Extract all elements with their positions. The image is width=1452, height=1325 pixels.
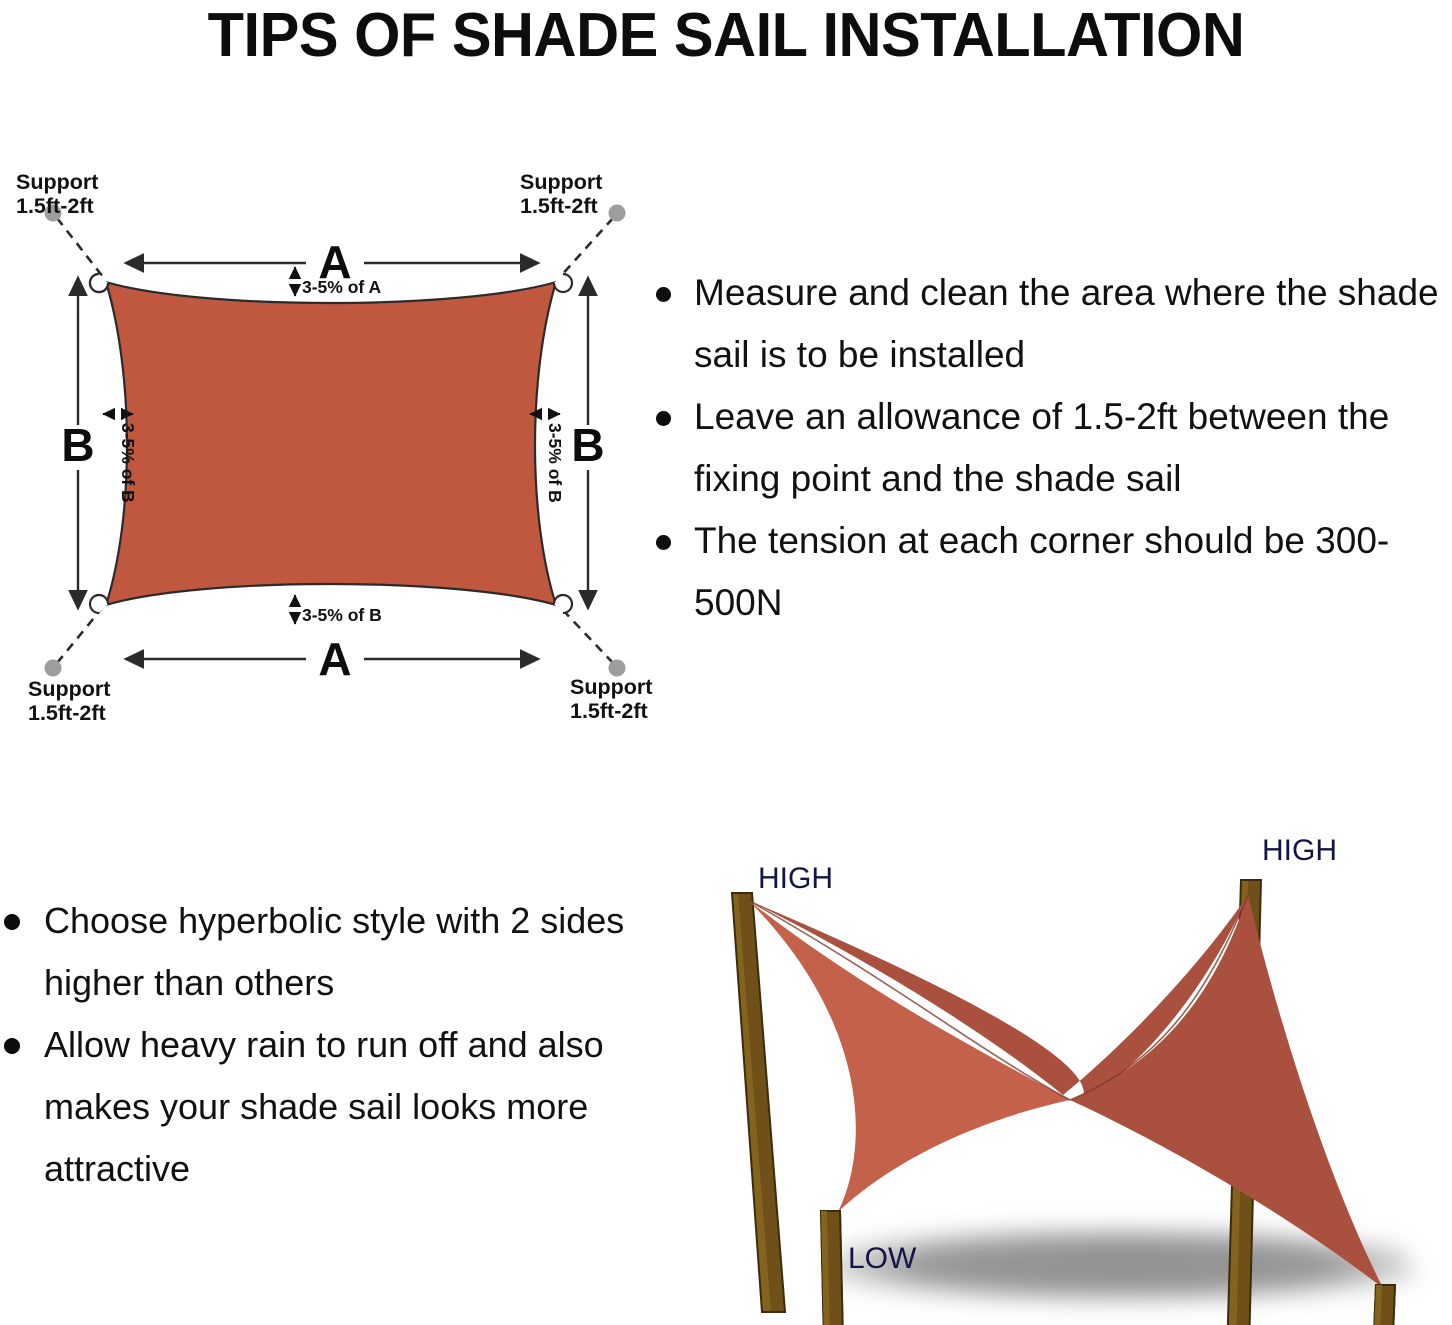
post-low-left-front xyxy=(821,1211,844,1325)
tip-text: Leave an allowance of 1.5-2ft between th… xyxy=(694,396,1389,499)
support-label-top-right-line2: 1.5ft-2ft xyxy=(520,194,598,218)
list-item: Measure and clean the area where the sha… xyxy=(648,262,1452,386)
dimension-label-b-right: B xyxy=(571,419,604,471)
page-title: TIPS OF SHADE SAIL INSTALLATION xyxy=(29,0,1423,70)
bullet-dot-icon xyxy=(656,411,671,426)
d-ring-bottom-right xyxy=(554,595,572,613)
label-high-right: HIGH xyxy=(1262,834,1337,867)
shade-sail-shape xyxy=(106,282,556,605)
curve-note-left: 3-5% of B xyxy=(103,414,138,503)
support-label-bottom-right-line1: Support xyxy=(570,675,652,699)
tips-bullets: Measure and clean the area where the sha… xyxy=(648,262,1452,634)
anchor-point-top-right xyxy=(609,205,626,222)
d-ring-top-left xyxy=(90,274,108,292)
support-label-bottom-right-line2: 1.5ft-2ft xyxy=(570,699,648,723)
dimension-arrow-b-right: B xyxy=(571,278,604,608)
support-label-bottom-left-line1: Support xyxy=(28,677,110,701)
style-tip-text: Allow heavy rain to run off and also mak… xyxy=(44,1024,604,1189)
support-label-bottom-right: Support 1.5ft-2ft xyxy=(570,675,652,723)
support-label-bottom-left-line2: 1.5ft-2ft xyxy=(28,701,106,725)
dimension-label-a-bottom: A xyxy=(318,633,351,685)
support-label-top-left-line1: Support xyxy=(16,170,98,194)
tip-text: The tension at each corner should be 300… xyxy=(694,520,1389,623)
bullet-dot-icon xyxy=(4,914,20,930)
anchor-point-bottom-right xyxy=(609,660,626,677)
anchor-point-bottom-left xyxy=(45,660,62,677)
d-ring-bottom-left xyxy=(90,595,108,613)
list-item: Choose hyperbolic style with 2 sides hig… xyxy=(0,890,640,1014)
installation-tips-list: Measure and clean the area where the sha… xyxy=(648,262,1452,682)
list-item: Leave an allowance of 1.5-2ft between th… xyxy=(648,386,1452,510)
bullet-dot-icon xyxy=(4,1038,20,1054)
list-item: Allow heavy rain to run off and also mak… xyxy=(0,1014,640,1200)
support-rope-bottom-right xyxy=(560,607,626,677)
curve-note-bottom-label: 3-5% of B xyxy=(302,605,382,625)
support-label-bottom-left: Support 1.5ft-2ft xyxy=(28,677,110,725)
label-low-left: LOW xyxy=(848,1242,917,1275)
support-label-top-left: Support 1.5ft-2ft xyxy=(16,170,98,218)
bullet-dot-icon xyxy=(656,535,671,550)
tip-text: Measure and clean the area where the sha… xyxy=(694,272,1439,375)
curve-note-left-label: 3-5% of B xyxy=(118,423,138,503)
support-label-top-left-line2: 1.5ft-2ft xyxy=(16,194,94,218)
support-label-top-right-line1: Support xyxy=(520,170,602,194)
post-high-left xyxy=(732,893,785,1312)
curve-note-bottom: 3-5% of B xyxy=(295,595,382,625)
hyperbolic-style-tips-list: Choose hyperbolic style with 2 sides hig… xyxy=(0,890,640,1220)
rectangle-sail-diagram: Support 1.5ft-2ft Support 1.5ft-2ft Supp… xyxy=(0,165,650,740)
dimension-label-b-left: B xyxy=(61,419,94,471)
style-tip-text: Choose hyperbolic style with 2 sides hig… xyxy=(44,900,624,1003)
label-high-left: HIGH xyxy=(758,862,833,895)
support-label-top-right: Support 1.5ft-2ft xyxy=(520,170,602,218)
curve-note-right-label: 3-5% of B xyxy=(545,423,565,503)
curve-note-top-label: 3-5% of A xyxy=(302,277,381,297)
support-rope-bottom-left xyxy=(45,607,104,677)
hyperbolic-sail-diagram: HIGH HIGH LOW LOW xyxy=(648,760,1452,1325)
bullet-dot-icon xyxy=(656,287,671,302)
dimension-arrow-b-left: B xyxy=(61,278,94,608)
dimension-arrow-a-bottom: A xyxy=(126,633,538,685)
list-item: The tension at each corner should be 300… xyxy=(648,510,1452,634)
d-ring-top-right xyxy=(554,274,572,292)
style-bullets: Choose hyperbolic style with 2 sides hig… xyxy=(0,890,640,1200)
